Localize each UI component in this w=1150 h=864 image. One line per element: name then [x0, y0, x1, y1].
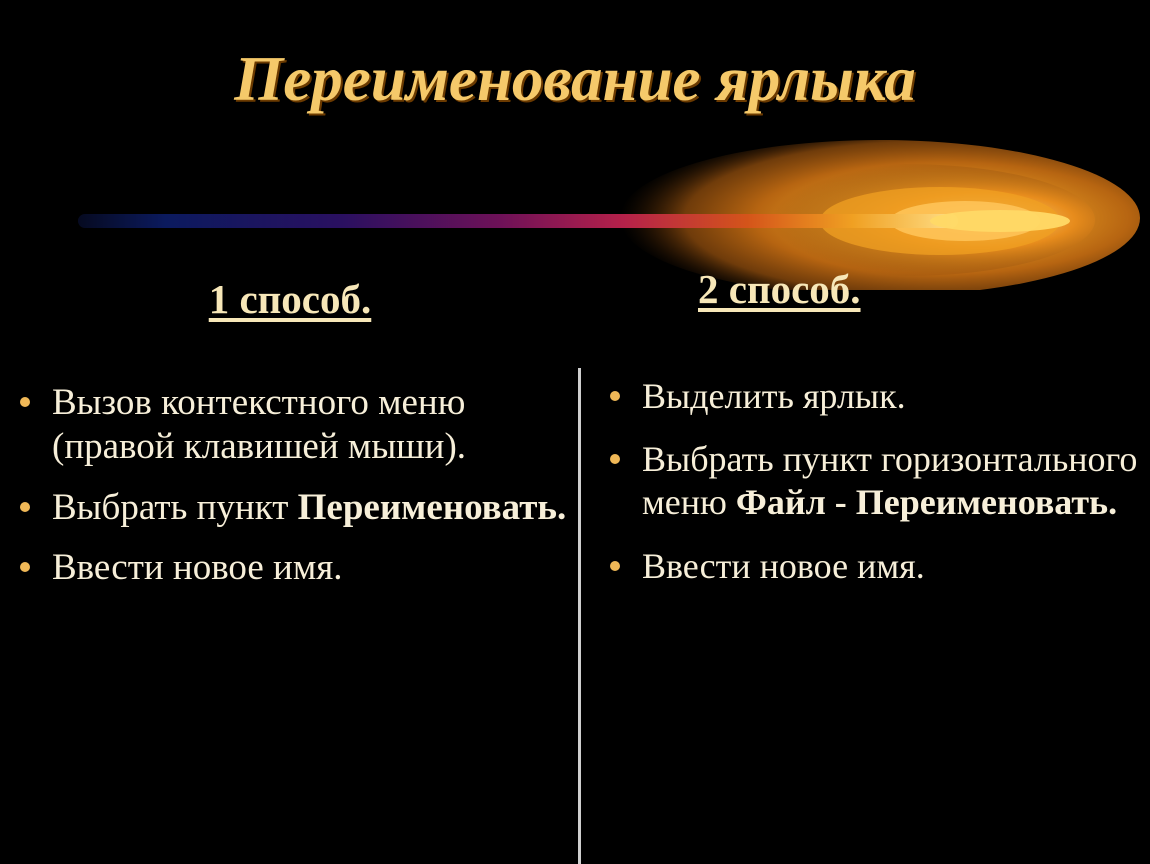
list-item-text: Выделить ярлык.: [642, 376, 906, 416]
bullet-dot-icon: [20, 397, 30, 407]
column-divider: [578, 368, 581, 864]
list-item-text: Выбрать пункт: [52, 487, 298, 528]
list-item: Выбрать пункт Переименовать.: [8, 486, 570, 530]
column-method-1: 1 способ. Вызов контекстного меню (право…: [0, 275, 570, 607]
list-item: Вызов контекстного меню (правой клавишей…: [8, 381, 570, 470]
column-1-bullet-list: Вызов контекстного меню (правой клавишей…: [0, 381, 570, 591]
bullet-dot-icon: [20, 562, 30, 572]
bullet-dot-icon: [610, 561, 620, 571]
bullet-dot-icon: [610, 391, 620, 401]
column-2-heading: 2 способ.: [588, 265, 1148, 313]
list-item-text: Ввести новое имя.: [642, 546, 925, 586]
list-item-emphasis: Переименовать.: [298, 487, 567, 528]
bullet-dot-icon: [610, 454, 620, 464]
list-item-text: Вызов контекстного меню (правой клавишей…: [52, 382, 466, 467]
list-item: Ввести новое имя.: [598, 545, 1148, 588]
bullet-dot-icon: [20, 502, 30, 512]
list-item-emphasis: Файл - Переименовать.: [736, 482, 1117, 522]
column-1-heading: 1 способ.: [0, 275, 570, 323]
list-item: Выбрать пункт горизонтального меню Файл …: [598, 438, 1148, 524]
list-item: Выделить ярлык.: [598, 375, 1148, 418]
column-2-bullet-list: Выделить ярлык.Выбрать пункт горизонталь…: [588, 375, 1148, 588]
list-item-text: Ввести новое имя.: [52, 547, 343, 588]
list-item: Ввести новое имя.: [8, 546, 570, 590]
page-title: Переименование ярлыка: [0, 46, 1150, 112]
column-method-2: 2 способ. Выделить ярлык.Выбрать пункт г…: [588, 265, 1148, 608]
